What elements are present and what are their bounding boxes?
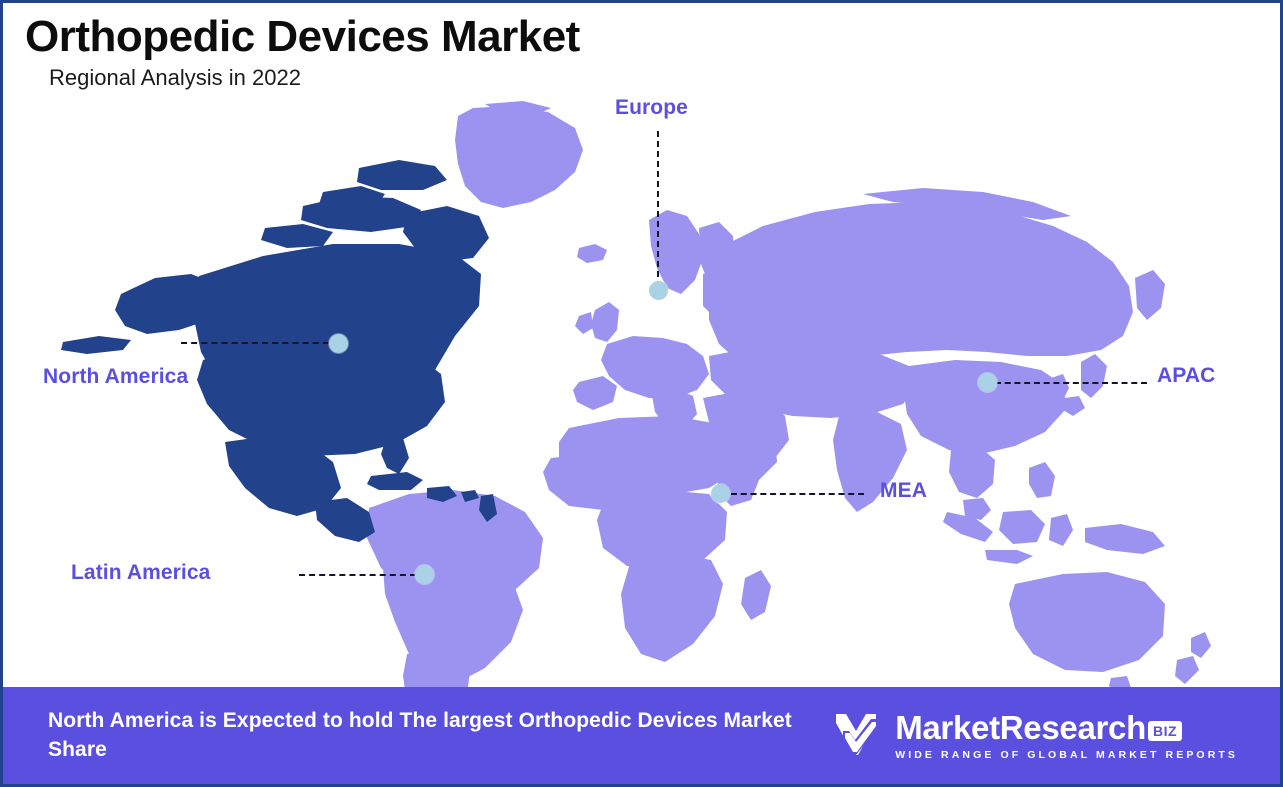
australia [1009, 572, 1165, 672]
russia [709, 202, 1133, 366]
japan-south [1063, 396, 1085, 416]
land-default-group [319, 101, 1211, 693]
logo-tagline: WIDE RANGE OF GLOBAL MARKET REPORTS [895, 749, 1238, 761]
logo-badge-biz: BIZ [1148, 721, 1182, 741]
sumatra [943, 512, 993, 542]
central-america [315, 498, 375, 542]
cuba [367, 472, 423, 490]
region-label-mea[interactable]: MEA [880, 479, 927, 503]
region-label-apac[interactable]: APAC [1157, 364, 1215, 388]
map-pin-dot-icon-europe[interactable] [649, 281, 668, 300]
region-label-north-america[interactable]: North America [43, 365, 188, 389]
philippines [1029, 462, 1055, 498]
korea-peninsula [1051, 374, 1069, 400]
map-pin-dot-icon-north-america[interactable] [329, 334, 348, 353]
southern-africa [621, 554, 723, 662]
land-highlight-group [61, 160, 497, 542]
header: Orthopedic Devices Market Regional Analy… [25, 13, 925, 91]
world-map [3, 98, 1283, 693]
world-map-svg [3, 98, 1283, 693]
iceland [577, 244, 607, 263]
kamchatka [1135, 270, 1165, 320]
checkmark-chevron-logo-icon [835, 711, 881, 761]
iberia [573, 376, 617, 410]
arctic-islands-2 [357, 160, 447, 190]
new-zealand-north [1191, 632, 1211, 658]
leader-line-latin-america [299, 574, 416, 576]
page-title: Orthopedic Devices Market [25, 13, 925, 61]
map-pin-dot-icon-mea[interactable] [711, 484, 730, 503]
borneo [999, 510, 1045, 544]
leader-line-mea [731, 493, 864, 495]
madagascar [741, 570, 771, 620]
page-subtitle: Regional Analysis in 2022 [49, 65, 925, 91]
infographic-poster: Orthopedic Devices Market Regional Analy… [0, 0, 1283, 787]
leader-line-europe [657, 131, 659, 287]
leader-line-apac [995, 382, 1147, 384]
leader-line-north-america [181, 342, 339, 344]
ireland [575, 312, 593, 334]
sulawesi [1049, 514, 1073, 546]
bottom-banner: North America is Expected to hold The la… [3, 687, 1283, 784]
banner-statement: North America is Expected to hold The la… [48, 707, 808, 764]
greenland [455, 106, 583, 208]
region-label-latin-america[interactable]: Latin America [71, 561, 210, 585]
java [985, 550, 1033, 564]
british-isles [591, 302, 619, 342]
map-pin-dot-icon-latin-america[interactable] [415, 565, 434, 584]
japan [1081, 354, 1107, 398]
united-states [197, 338, 445, 456]
indochina [949, 446, 995, 498]
new-zealand-south [1175, 656, 1199, 684]
logo-text: MarketResearch BIZ WIDE RANGE OF GLOBAL … [895, 711, 1238, 761]
new-guinea [1085, 524, 1165, 554]
region-label-europe[interactable]: Europe [615, 96, 688, 120]
brand-logo[interactable]: MarketResearch BIZ WIDE RANGE OF GLOBAL … [835, 711, 1256, 761]
arctic-islands-3 [261, 224, 333, 248]
map-pin-dot-icon-apac[interactable] [978, 373, 997, 392]
western-europe [601, 336, 709, 398]
aleutians [61, 336, 131, 354]
logo-wordmark-row: MarketResearch BIZ [895, 711, 1182, 744]
logo-wordmark: MarketResearch [895, 711, 1146, 744]
florida [381, 438, 409, 474]
